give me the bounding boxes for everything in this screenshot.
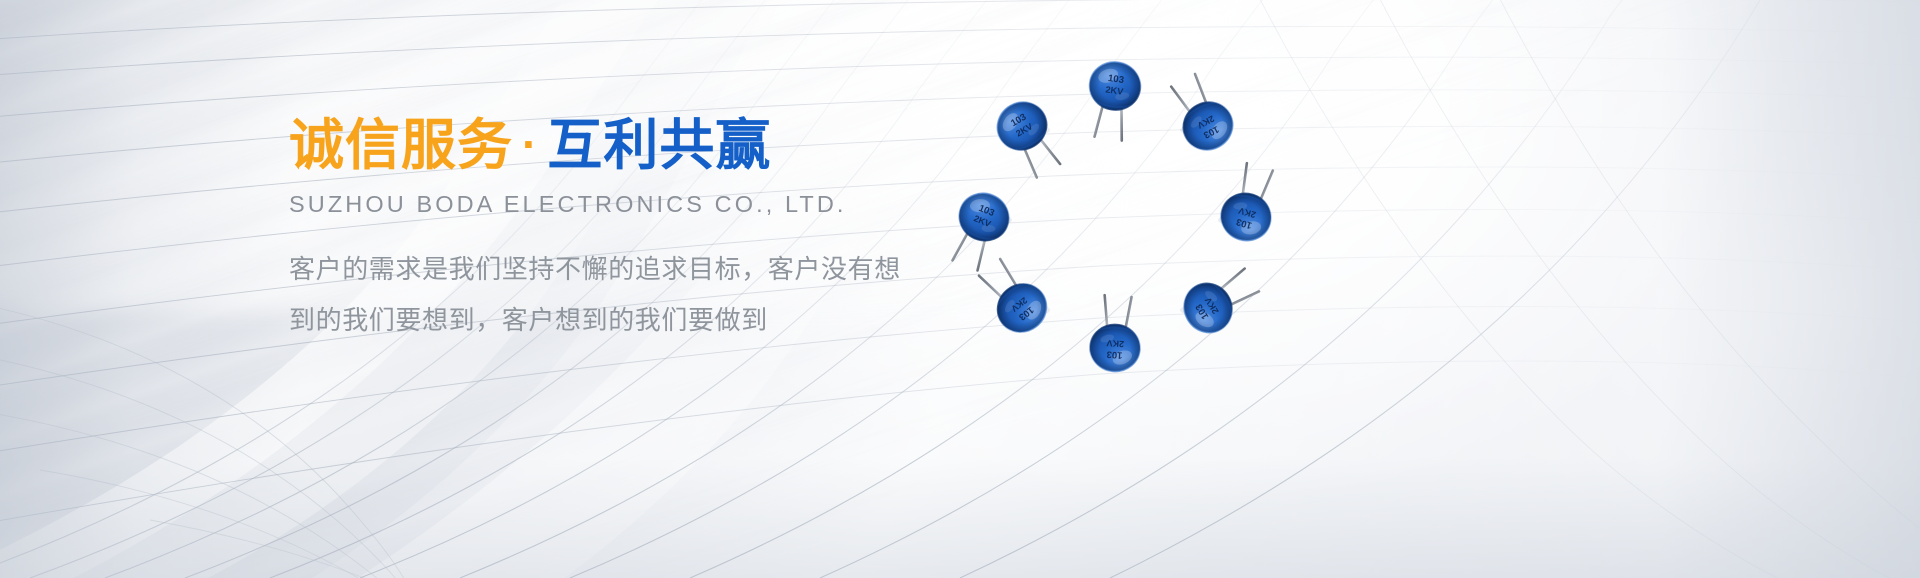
capacitor-top-left <box>989 93 1070 183</box>
hero-banner: 诚信服务·互利共赢 SUZHOU BODA ELECTRONICS CO., L… <box>0 0 1920 578</box>
paragraph-line-1: 客户的需求是我们坚持不懈的追求目标，客户没有想 <box>289 244 919 295</box>
company-name-english: SUZHOU BODA ELECTRONICS CO., LTD. <box>289 191 929 218</box>
paragraph-line-2: 到的我们要想到，客户想到的我们要做到 <box>289 295 919 346</box>
capacitor-top <box>1082 59 1143 142</box>
banner-paragraph: 客户的需求是我们坚持不懈的追求目标，客户没有想 到的我们要想到，客户想到的我们要… <box>289 244 919 346</box>
capacitor-bottom-right <box>1175 259 1266 341</box>
capacitor-bottom <box>1088 294 1143 373</box>
capacitor-top-right <box>1162 68 1242 158</box>
capacitor-left <box>941 186 1016 275</box>
banner-copy: 诚信服务·互利共赢 SUZHOU BODA ELECTRONICS CO., L… <box>289 116 929 346</box>
headline-part-2: 互利共赢 <box>547 114 771 176</box>
capacitor-right <box>1215 160 1284 246</box>
page-title: 诚信服务·互利共赢 <box>289 116 929 175</box>
capacitor-ring-arrangement: 103 2KV <box>940 42 1290 392</box>
capacitor-ring-svg: 103 2KV <box>940 42 1290 392</box>
headline-part-1: 诚信服务 <box>289 114 513 176</box>
headline-separator-dot: · <box>513 118 547 170</box>
capacitor-bottom-left <box>970 252 1056 342</box>
